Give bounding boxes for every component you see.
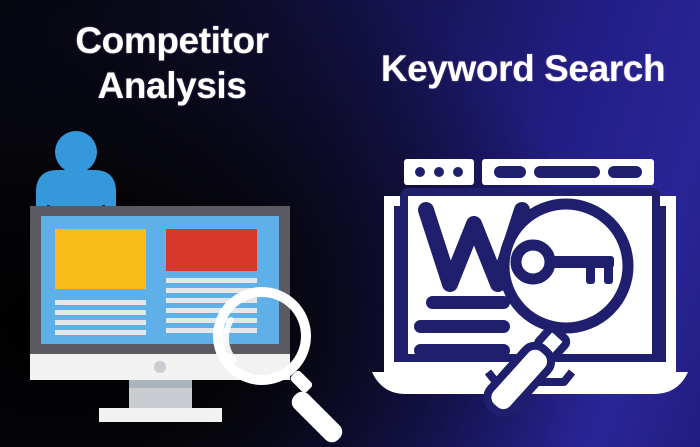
keyword-search-illustration [370,150,690,440]
monitor-power-dot [154,361,166,373]
browser-bar-pills-segment [482,159,654,185]
page-title-keyword-search: Keyword Search [360,46,686,91]
screen-block-yellow [55,229,146,289]
page-text-lines [414,296,510,357]
monitor-stand-base [99,408,222,422]
browser-bar-dots-segment [404,159,474,185]
screen-block-red [166,229,257,271]
page-title-competitor-analysis: Competitor Analysis [22,18,322,108]
monitor-stand-neck-top [129,380,192,388]
banner-canvas: Competitor Analysis Keyword Search [0,0,700,447]
competitor-analysis-illustration [14,128,364,440]
person-icon [36,131,116,217]
